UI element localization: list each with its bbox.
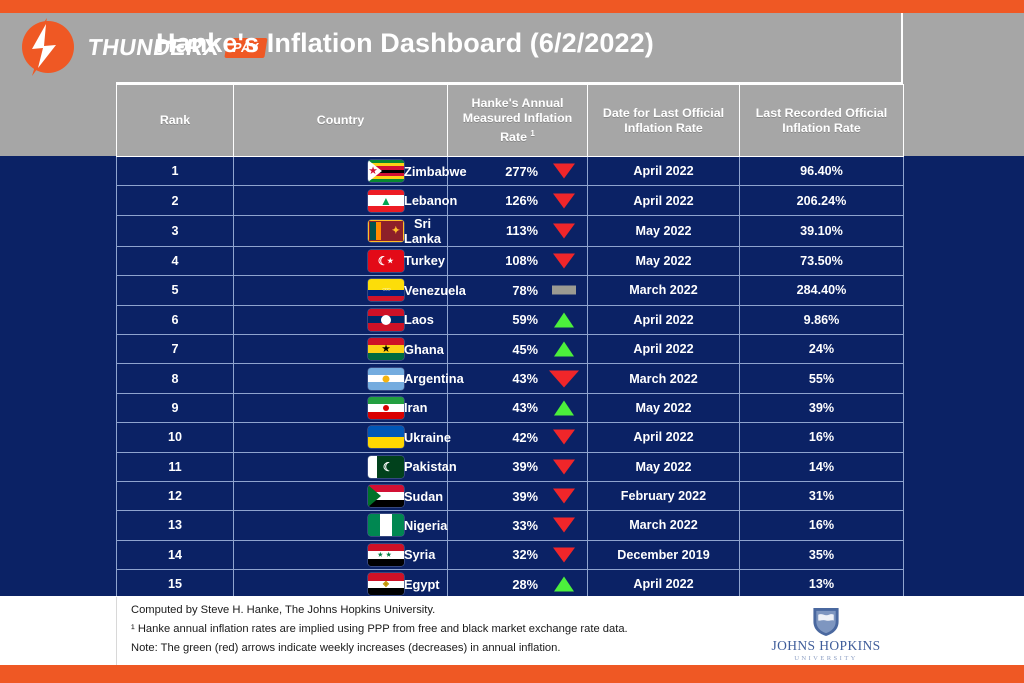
- table-row[interactable]: 14★★Syria32%December 201935%: [117, 540, 904, 569]
- inflation-table: Rank Country Hanke's Annual Measured Inf…: [116, 84, 904, 599]
- footnote-arrows: Note: The green (red) arrows indicate we…: [131, 639, 731, 658]
- flag-venezuela: ○○○: [368, 279, 404, 301]
- footnote-credit: Computed by Steve H. Hanke, The Johns Ho…: [131, 601, 731, 620]
- table-row[interactable]: 9Iran43%May 202239%: [117, 393, 904, 422]
- trend-up-arrow-icon: [551, 309, 577, 331]
- country-label: Iran: [404, 400, 453, 415]
- trend-down-arrow-icon: [551, 544, 577, 566]
- table-row[interactable]: 2▲Lebanon126%April 2022206.24%: [117, 186, 904, 215]
- cell-country: ★★Syria: [234, 540, 448, 569]
- flag-iran: [368, 397, 404, 419]
- cell-date: May 2022: [588, 215, 740, 246]
- table-row[interactable]: 11☾Pakistan39%May 202214%: [117, 452, 904, 481]
- cell-last-rate: 35%: [740, 540, 904, 569]
- flag-sudan: [368, 485, 404, 507]
- cell-country: ○○○Venezuela: [234, 276, 448, 305]
- country-label: Ghana: [404, 342, 470, 357]
- rate-value: 39%: [496, 489, 538, 504]
- rate-value: 108%: [496, 253, 538, 268]
- rate-value: 59%: [496, 312, 538, 327]
- cell-date: April 2022: [588, 305, 740, 334]
- cell-rate: 59%: [448, 305, 588, 334]
- rate-value: 113%: [496, 223, 538, 238]
- cell-rank: 3: [117, 215, 234, 246]
- rate-value: 277%: [496, 164, 538, 179]
- footnotes: Computed by Steve H. Hanke, The Johns Ho…: [131, 601, 731, 658]
- cell-date: May 2022: [588, 246, 740, 275]
- cell-date: April 2022: [588, 570, 740, 599]
- col-header-rate-label: Hanke's Annual Measured Inflation Rate: [463, 96, 572, 144]
- country-label: Ukraine: [404, 430, 477, 445]
- flag-syria: ★★: [368, 544, 404, 566]
- trend-up-arrow-icon: [551, 573, 577, 595]
- cell-rank: 2: [117, 186, 234, 215]
- trend-down-arrow-icon: [551, 368, 577, 390]
- cell-country: ▲Lebanon: [234, 186, 448, 215]
- flag-ukraine: [368, 426, 404, 448]
- country-label: Lebanon: [404, 193, 483, 208]
- cell-country: ★Ghana: [234, 334, 448, 363]
- col-header-country[interactable]: Country: [234, 85, 448, 157]
- cell-country: Sudan: [234, 481, 448, 510]
- cell-country: Laos: [234, 305, 448, 334]
- trend-up-arrow-icon: [551, 397, 577, 419]
- cell-country: ✦Sri Lanka: [234, 215, 448, 246]
- cell-date: March 2022: [588, 511, 740, 540]
- flag-argentina: [368, 368, 404, 390]
- table-row[interactable]: 10Ukraine42%April 202216%: [117, 423, 904, 452]
- rate-value: 39%: [496, 459, 538, 474]
- cell-date: April 2022: [588, 334, 740, 363]
- cell-rank: 15: [117, 570, 234, 599]
- institution-name: JOHNS HOPKINS: [771, 638, 880, 654]
- cell-last-rate: 39.10%: [740, 215, 904, 246]
- flag-laos: [368, 309, 404, 331]
- trend-down-arrow-icon: [551, 190, 577, 212]
- cell-last-rate: 31%: [740, 481, 904, 510]
- trend-flat-bar-icon: [551, 279, 577, 301]
- institution-logo: JOHNS HOPKINS UNIVERSITY: [752, 606, 900, 662]
- cell-date: April 2022: [588, 423, 740, 452]
- country-label: Laos: [404, 312, 460, 327]
- flag-nigeria: [368, 514, 404, 536]
- cell-rank: 11: [117, 452, 234, 481]
- col-header-rate[interactable]: Hanke's Annual Measured Inflation Rate 1: [448, 85, 588, 157]
- cell-rank: 8: [117, 364, 234, 393]
- trend-down-arrow-icon: [551, 250, 577, 272]
- col-header-rate-footnote-marker: 1: [530, 129, 534, 138]
- cell-country: ◈Egypt: [234, 570, 448, 599]
- rate-value: 32%: [496, 547, 538, 562]
- trend-down-arrow-icon: [551, 220, 577, 242]
- table-row[interactable]: 7★Ghana45%April 202224%: [117, 334, 904, 363]
- top-accent-bar: [0, 0, 1024, 13]
- cell-rank: 7: [117, 334, 234, 363]
- cell-rank: 14: [117, 540, 234, 569]
- col-header-last[interactable]: Last Recorded Official Inflation Rate: [740, 85, 904, 157]
- cell-rank: 9: [117, 393, 234, 422]
- flag-egypt: ◈: [368, 573, 404, 595]
- trend-down-arrow-icon: [551, 485, 577, 507]
- flag-pakistan: ☾: [368, 456, 404, 478]
- rate-value: 78%: [496, 283, 538, 298]
- flag-lebanon: ▲: [368, 190, 404, 212]
- trend-down-arrow-icon: [551, 456, 577, 478]
- rate-value: 43%: [496, 400, 538, 415]
- cell-last-rate: 14%: [740, 452, 904, 481]
- country-label: Sri Lanka: [404, 216, 467, 246]
- cell-last-rate: 73.50%: [740, 246, 904, 275]
- flag-turkey: ☾★: [368, 250, 404, 272]
- cell-rank: 1: [117, 157, 234, 186]
- col-header-rank[interactable]: Rank: [117, 85, 234, 157]
- jhu-shield-icon: [811, 606, 841, 637]
- cell-rate: 28%: [448, 570, 588, 599]
- cell-date: May 2022: [588, 452, 740, 481]
- cell-country: ☾★Turkey: [234, 246, 448, 275]
- rate-value: 42%: [496, 430, 538, 445]
- dashboard-page: THUNDERX PAY Hanke's Inflation Dashboard…: [0, 0, 1024, 683]
- cell-last-rate: 206.24%: [740, 186, 904, 215]
- cell-rank: 13: [117, 511, 234, 540]
- cell-date: May 2022: [588, 393, 740, 422]
- flag-sri-lanka: ✦: [368, 220, 404, 242]
- cell-date: April 2022: [588, 157, 740, 186]
- country-label: Egypt: [404, 577, 466, 592]
- table-row[interactable]: 12Sudan39%February 202231%: [117, 481, 904, 510]
- cell-last-rate: 55%: [740, 364, 904, 393]
- cell-last-rate: 13%: [740, 570, 904, 599]
- table-row[interactable]: 1★Zimbabwe277%April 202296.40%: [117, 157, 904, 186]
- cell-date: February 2022: [588, 481, 740, 510]
- footnote-method: ¹ Hanke annual inflation rates are impli…: [131, 620, 731, 639]
- table-row[interactable]: 15◈Egypt28%April 202213%: [117, 570, 904, 599]
- cell-last-rate: 96.40%: [740, 157, 904, 186]
- cell-country: ★Zimbabwe: [234, 157, 448, 186]
- cell-rank: 4: [117, 246, 234, 275]
- table-row[interactable]: 6Laos59%April 20229.86%: [117, 305, 904, 334]
- cell-date: March 2022: [588, 364, 740, 393]
- cell-rank: 6: [117, 305, 234, 334]
- table-body: 1★Zimbabwe277%April 202296.40%2▲Lebanon1…: [117, 157, 904, 599]
- rate-value: 45%: [496, 342, 538, 357]
- cell-last-rate: 24%: [740, 334, 904, 363]
- rate-value: 126%: [496, 193, 538, 208]
- cell-rate: 113%: [448, 215, 588, 246]
- cell-rank: 10: [117, 423, 234, 452]
- country-label: Nigeria: [404, 518, 473, 533]
- cell-last-rate: 16%: [740, 423, 904, 452]
- cell-last-rate: 39%: [740, 393, 904, 422]
- thunderbolt-icon: [16, 16, 78, 78]
- cell-date: December 2019: [588, 540, 740, 569]
- bottom-accent-bar: [0, 665, 1024, 683]
- cell-last-rate: 9.86%: [740, 305, 904, 334]
- trend-up-arrow-icon: [551, 338, 577, 360]
- table-row[interactable]: 13Nigeria33%March 202216%: [117, 511, 904, 540]
- cell-rank: 12: [117, 481, 234, 510]
- cell-country: ☾Pakistan: [234, 452, 448, 481]
- rate-value: 28%: [496, 577, 538, 592]
- country-label: Argentina: [404, 371, 490, 386]
- cell-last-rate: 284.40%: [740, 276, 904, 305]
- page-title: Hanke's Inflation Dashboard (6/2/2022): [156, 28, 654, 59]
- table-row[interactable]: 4☾★Turkey108%May 202273.50%: [117, 246, 904, 275]
- country-label: Pakistan: [404, 459, 483, 474]
- cell-country: Iran: [234, 393, 448, 422]
- rate-value: 43%: [496, 371, 538, 386]
- trend-down-arrow-icon: [551, 426, 577, 448]
- table-row[interactable]: 5○○○Venezuela78%March 2022284.40%: [117, 276, 904, 305]
- country-label: Zimbabwe: [404, 164, 493, 179]
- country-label: Sudan: [404, 489, 469, 504]
- cell-rate: 43%: [448, 393, 588, 422]
- col-header-date[interactable]: Date for Last Official Inflation Rate: [588, 85, 740, 157]
- table-header-row: Rank Country Hanke's Annual Measured Inf…: [117, 85, 904, 157]
- table-row[interactable]: 3✦Sri Lanka113%May 202239.10%: [117, 215, 904, 246]
- country-label: Turkey: [404, 253, 471, 268]
- cell-date: March 2022: [588, 276, 740, 305]
- cell-country: Nigeria: [234, 511, 448, 540]
- flag-ghana: ★: [368, 338, 404, 360]
- footer-divider: [116, 597, 117, 665]
- cell-date: April 2022: [588, 186, 740, 215]
- cell-country: Argentina: [234, 364, 448, 393]
- cell-rank: 5: [117, 276, 234, 305]
- table-row[interactable]: 8Argentina43%March 202255%: [117, 364, 904, 393]
- cell-last-rate: 16%: [740, 511, 904, 540]
- rate-value: 33%: [496, 518, 538, 533]
- trend-down-arrow-icon: [551, 160, 577, 182]
- trend-down-arrow-icon: [551, 514, 577, 536]
- cell-rate: 32%: [448, 540, 588, 569]
- institution-sub: UNIVERSITY: [794, 655, 858, 662]
- flag-zimbabwe: ★: [368, 160, 404, 182]
- cell-country: Ukraine: [234, 423, 448, 452]
- country-label: Syria: [404, 547, 461, 562]
- country-label: Venezuela: [404, 283, 492, 298]
